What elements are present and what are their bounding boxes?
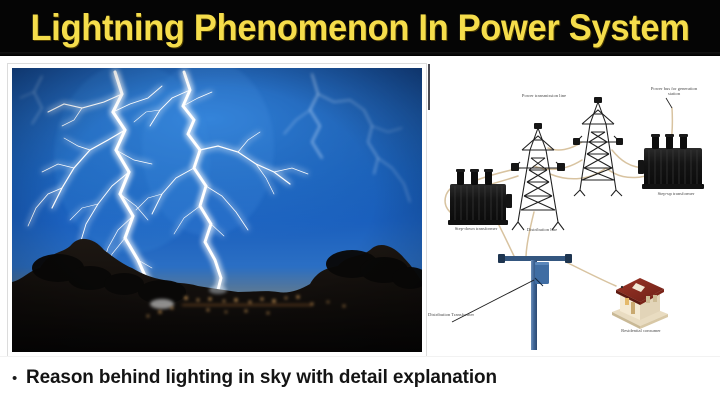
caption-text: Reason behind lighting in sky with detai… [26, 364, 497, 390]
lightning-photo-frame [8, 64, 426, 356]
transmission-tower-left [512, 128, 564, 230]
transmission-tower-right [574, 102, 622, 196]
caption-row: • Reason behind lighting in sky with det… [12, 364, 712, 392]
label-leader-lines [666, 98, 672, 108]
house [612, 278, 668, 329]
distribution-pole [452, 254, 572, 350]
page-title: Lightning Phenomenon In Power System [25, 2, 695, 54]
power-system-diagram-panel: Power transmission line Power bus for ge… [430, 64, 716, 356]
lightning-photo [12, 68, 422, 352]
label-distribution-transformer: Distribution Transformer [428, 312, 478, 317]
label-step-down-transformer: Step-down transformer [440, 226, 512, 231]
caption-seam [0, 356, 720, 357]
label-residential-consumer: Residential consumer [608, 328, 674, 333]
label-distribution-line: Distribution line [516, 227, 568, 232]
photo-vignette [12, 68, 422, 352]
caption-area: • Reason behind lighting in sky with det… [0, 356, 720, 404]
title-bar: Lightning Phenomenon In Power System [0, 0, 720, 56]
slide-canvas: Lightning Phenomenon In Power System [0, 0, 720, 404]
label-step-up-transformer: Step-up transformer [646, 191, 706, 196]
step-down-transformer-unit [448, 169, 512, 225]
label-power-transmission-line: Power transmission line [516, 93, 572, 98]
label-power-bus-from-generation-station: Power bus for generation station [646, 86, 702, 97]
bullet-point-icon: • [12, 366, 17, 392]
title-bar-divider [0, 52, 720, 56]
step-up-transformer-unit [638, 134, 704, 189]
